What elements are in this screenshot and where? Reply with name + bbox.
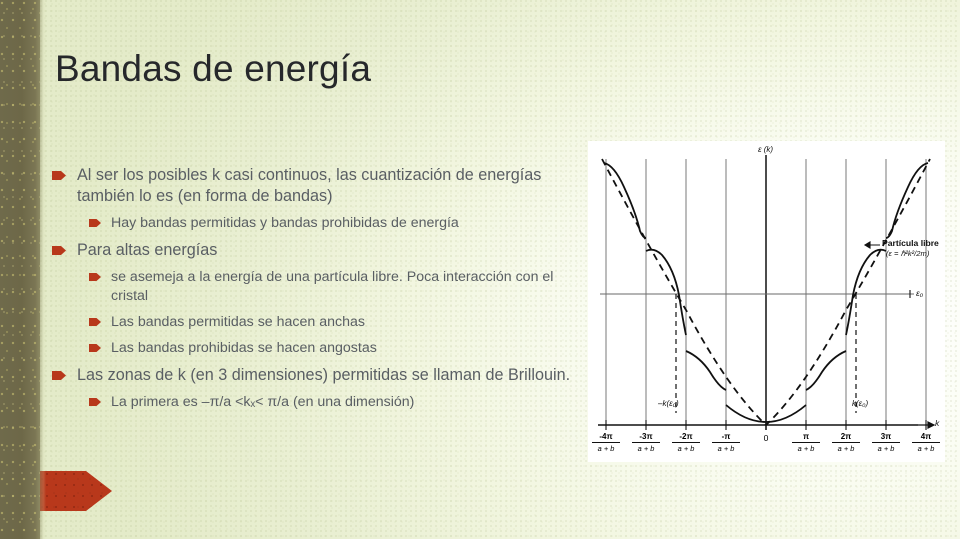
bullet-arrow-icon (89, 219, 101, 227)
list-item: Hay bandas permitidas y bandas prohibida… (89, 214, 572, 233)
bullet-arrow-icon (52, 246, 66, 255)
bullet-arrow-icon (89, 398, 101, 406)
band-edge-shadow (40, 0, 46, 539)
bullet-arrow-icon (89, 273, 101, 281)
list-item: La primera es –π/a <kₓ< π/a (en una dime… (89, 393, 572, 412)
list-item: Las zonas de k (en 3 dimensiones) permit… (52, 365, 572, 386)
band-structure-plot (588, 141, 945, 462)
list-item: Las bandas prohibidas se hacen angostas (89, 339, 572, 358)
list-item-label: La primera es –π/a <kₓ< π/a (en una dime… (111, 393, 572, 412)
bullet-arrow-icon (52, 171, 66, 180)
slide-canvas: Bandas de energía Al ser los posibles k … (0, 0, 960, 539)
list-item: Al ser los posibles k casi continuos, la… (52, 165, 572, 207)
bullet-arrow-icon (89, 344, 101, 352)
bullet-arrow-icon (52, 371, 66, 380)
bullet-list: Al ser los posibles k casi continuos, la… (52, 165, 572, 419)
list-item: Para altas energías (52, 240, 572, 261)
bullet-arrow-icon (89, 318, 101, 326)
list-item: se asemeja a la energía de una partícula… (89, 268, 572, 306)
list-item: Las bandas permitidas se hacen anchas (89, 313, 572, 332)
list-item-label: Para altas energías (77, 240, 572, 261)
list-item-label: Las bandas permitidas se hacen anchas (111, 313, 572, 332)
list-item-label: Hay bandas permitidas y bandas prohibida… (111, 214, 572, 233)
page-title: Bandas de energía (55, 48, 371, 90)
list-item-label: se asemeja a la energía de una partícula… (111, 268, 572, 306)
list-item-label: Las bandas prohibidas se hacen angostas (111, 339, 572, 358)
free-particle-leader-arrow (865, 242, 880, 248)
left-decorative-band (0, 0, 40, 539)
list-item-label: Las zonas de k (en 3 dimensiones) permit… (77, 365, 572, 386)
list-item-label: Al ser los posibles k casi continuos, la… (77, 165, 572, 207)
band-structure-figure: ε (k) k Partícula libre (ε = ℏ²k²/2m) ε₀… (588, 141, 945, 462)
